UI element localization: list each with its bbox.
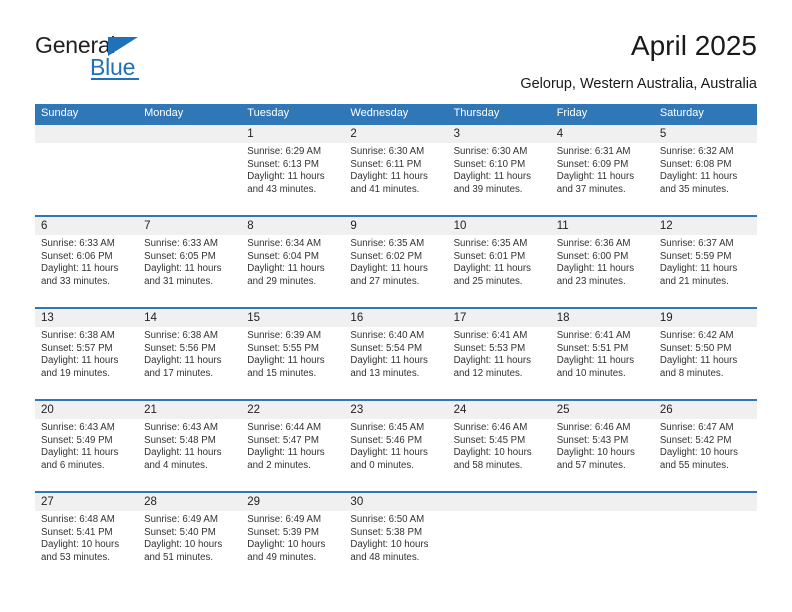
day-number[interactable]: 30 — [344, 493, 447, 511]
sunset-text: Sunset: 5:56 PM — [144, 343, 235, 356]
day-number[interactable]: 9 — [344, 217, 447, 235]
daylight-text-line1: Daylight: 11 hours — [660, 171, 751, 184]
day-cell: Sunrise: 6:29 AM Sunset: 6:13 PM Dayligh… — [241, 143, 344, 215]
daylight-text-line2: and 58 minutes. — [454, 460, 545, 473]
day-number-band: 27 28 29 30 — [35, 493, 757, 511]
sunset-text: Sunset: 6:11 PM — [350, 159, 441, 172]
daylight-text-line1: Daylight: 11 hours — [350, 263, 441, 276]
sunset-text: Sunset: 5:43 PM — [557, 435, 648, 448]
sunset-text: Sunset: 6:01 PM — [454, 251, 545, 264]
sunrise-text: Sunrise: 6:41 AM — [454, 330, 545, 343]
sunrise-text: Sunrise: 6:45 AM — [350, 422, 441, 435]
sunrise-text: Sunrise: 6:34 AM — [247, 238, 338, 251]
day-number-band: 20 21 22 23 24 25 26 — [35, 401, 757, 419]
day-number[interactable]: 25 — [551, 401, 654, 419]
weekday-header-thursday: Thursday — [448, 104, 551, 123]
sunrise-text: Sunrise: 6:43 AM — [144, 422, 235, 435]
day-cell: Sunrise: 6:46 AM Sunset: 5:43 PM Dayligh… — [551, 419, 654, 491]
day-number[interactable]: 16 — [344, 309, 447, 327]
day-number[interactable]: 24 — [448, 401, 551, 419]
day-cell — [448, 511, 551, 583]
daylight-text-line2: and 15 minutes. — [247, 368, 338, 381]
day-number[interactable]: 2 — [344, 125, 447, 143]
day-cell: Sunrise: 6:33 AM Sunset: 6:06 PM Dayligh… — [35, 235, 138, 307]
day-info-band: Sunrise: 6:29 AM Sunset: 6:13 PM Dayligh… — [35, 143, 757, 215]
day-cell: Sunrise: 6:36 AM Sunset: 6:00 PM Dayligh… — [551, 235, 654, 307]
daylight-text-line1: Daylight: 11 hours — [144, 263, 235, 276]
sunrise-text: Sunrise: 6:42 AM — [660, 330, 751, 343]
daylight-text-line1: Daylight: 11 hours — [41, 263, 132, 276]
daylight-text-line1: Daylight: 11 hours — [350, 447, 441, 460]
day-cell: Sunrise: 6:30 AM Sunset: 6:11 PM Dayligh… — [344, 143, 447, 215]
day-cell: Sunrise: 6:49 AM Sunset: 5:40 PM Dayligh… — [138, 511, 241, 583]
daylight-text-line1: Daylight: 11 hours — [41, 355, 132, 368]
daylight-text-line1: Daylight: 11 hours — [247, 263, 338, 276]
day-cell: Sunrise: 6:42 AM Sunset: 5:50 PM Dayligh… — [654, 327, 757, 399]
daylight-text-line2: and 49 minutes. — [247, 552, 338, 565]
sunrise-text: Sunrise: 6:39 AM — [247, 330, 338, 343]
daylight-text-line1: Daylight: 11 hours — [247, 355, 338, 368]
sunset-text: Sunset: 6:02 PM — [350, 251, 441, 264]
daylight-text-line1: Daylight: 10 hours — [144, 539, 235, 552]
day-cell — [35, 143, 138, 215]
sunrise-text: Sunrise: 6:43 AM — [41, 422, 132, 435]
day-info-band: Sunrise: 6:48 AM Sunset: 5:41 PM Dayligh… — [35, 511, 757, 583]
general-blue-logo: General Blue — [35, 32, 165, 80]
daylight-text-line2: and 21 minutes. — [660, 276, 751, 289]
day-number[interactable] — [551, 493, 654, 511]
daylight-text-line2: and 33 minutes. — [41, 276, 132, 289]
day-number[interactable]: 6 — [35, 217, 138, 235]
day-cell: Sunrise: 6:49 AM Sunset: 5:39 PM Dayligh… — [241, 511, 344, 583]
sunrise-text: Sunrise: 6:47 AM — [660, 422, 751, 435]
daylight-text-line1: Daylight: 11 hours — [557, 355, 648, 368]
sunset-text: Sunset: 5:39 PM — [247, 527, 338, 540]
daylight-text-line2: and 17 minutes. — [144, 368, 235, 381]
daylight-text-line1: Daylight: 11 hours — [144, 355, 235, 368]
weekday-header-sunday: Sunday — [35, 104, 138, 123]
day-number[interactable]: 15 — [241, 309, 344, 327]
sunset-text: Sunset: 5:51 PM — [557, 343, 648, 356]
day-cell: Sunrise: 6:38 AM Sunset: 5:56 PM Dayligh… — [138, 327, 241, 399]
logo-text-blue: Blue — [90, 54, 135, 80]
day-cell: Sunrise: 6:37 AM Sunset: 5:59 PM Dayligh… — [654, 235, 757, 307]
daylight-text-line1: Daylight: 11 hours — [660, 355, 751, 368]
daylight-text-line1: Daylight: 11 hours — [454, 263, 545, 276]
sunset-text: Sunset: 5:38 PM — [350, 527, 441, 540]
day-number[interactable]: 29 — [241, 493, 344, 511]
day-cell: Sunrise: 6:40 AM Sunset: 5:54 PM Dayligh… — [344, 327, 447, 399]
sunset-text: Sunset: 5:59 PM — [660, 251, 751, 264]
day-number[interactable]: 13 — [35, 309, 138, 327]
daylight-text-line2: and 27 minutes. — [350, 276, 441, 289]
day-cell: Sunrise: 6:33 AM Sunset: 6:05 PM Dayligh… — [138, 235, 241, 307]
daylight-text-line2: and 6 minutes. — [41, 460, 132, 473]
day-cell: Sunrise: 6:46 AM Sunset: 5:45 PM Dayligh… — [448, 419, 551, 491]
day-cell: Sunrise: 6:32 AM Sunset: 6:08 PM Dayligh… — [654, 143, 757, 215]
page-title: April 2025 — [631, 30, 757, 62]
sunrise-text: Sunrise: 6:44 AM — [247, 422, 338, 435]
daylight-text-line2: and 13 minutes. — [350, 368, 441, 381]
day-cell: Sunrise: 6:48 AM Sunset: 5:41 PM Dayligh… — [35, 511, 138, 583]
sunset-text: Sunset: 6:08 PM — [660, 159, 751, 172]
daylight-text-line1: Daylight: 11 hours — [247, 447, 338, 460]
day-number-band: 6 7 8 9 10 11 12 — [35, 217, 757, 235]
weekday-header-friday: Friday — [551, 104, 654, 123]
calendar-table: Sunday Monday Tuesday Wednesday Thursday… — [35, 104, 757, 583]
daylight-text-line2: and 31 minutes. — [144, 276, 235, 289]
daylight-text-line1: Daylight: 10 hours — [247, 539, 338, 552]
daylight-text-line1: Daylight: 10 hours — [557, 447, 648, 460]
calendar-page: General Blue April 2025 Gelorup, Western… — [0, 0, 792, 612]
sunrise-text: Sunrise: 6:33 AM — [41, 238, 132, 251]
day-cell: Sunrise: 6:45 AM Sunset: 5:46 PM Dayligh… — [344, 419, 447, 491]
day-number[interactable]: 27 — [35, 493, 138, 511]
day-cell: Sunrise: 6:43 AM Sunset: 5:48 PM Dayligh… — [138, 419, 241, 491]
logo-underline — [91, 78, 139, 80]
day-number[interactable]: 3 — [448, 125, 551, 143]
sunset-text: Sunset: 5:55 PM — [247, 343, 338, 356]
day-cell: Sunrise: 6:31 AM Sunset: 6:09 PM Dayligh… — [551, 143, 654, 215]
sunrise-text: Sunrise: 6:32 AM — [660, 146, 751, 159]
sunrise-text: Sunrise: 6:46 AM — [557, 422, 648, 435]
daylight-text-line2: and 48 minutes. — [350, 552, 441, 565]
day-number[interactable]: 5 — [654, 125, 757, 143]
sunset-text: Sunset: 6:00 PM — [557, 251, 648, 264]
sunrise-text: Sunrise: 6:38 AM — [144, 330, 235, 343]
day-cell: Sunrise: 6:39 AM Sunset: 5:55 PM Dayligh… — [241, 327, 344, 399]
sunset-text: Sunset: 5:49 PM — [41, 435, 132, 448]
day-cell: Sunrise: 6:41 AM Sunset: 5:51 PM Dayligh… — [551, 327, 654, 399]
daylight-text-line2: and 25 minutes. — [454, 276, 545, 289]
day-number-band: 13 14 15 16 17 18 19 — [35, 309, 757, 327]
daylight-text-line1: Daylight: 11 hours — [557, 171, 648, 184]
sunset-text: Sunset: 5:57 PM — [41, 343, 132, 356]
daylight-text-line2: and 0 minutes. — [350, 460, 441, 473]
sunrise-text: Sunrise: 6:49 AM — [247, 514, 338, 527]
sunrise-text: Sunrise: 6:30 AM — [454, 146, 545, 159]
daylight-text-line2: and 19 minutes. — [41, 368, 132, 381]
sunset-text: Sunset: 6:05 PM — [144, 251, 235, 264]
day-number[interactable]: 7 — [138, 217, 241, 235]
weekday-header-wednesday: Wednesday — [344, 104, 447, 123]
daylight-text-line1: Daylight: 11 hours — [350, 171, 441, 184]
day-info-band: Sunrise: 6:38 AM Sunset: 5:57 PM Dayligh… — [35, 327, 757, 399]
day-cell: Sunrise: 6:41 AM Sunset: 5:53 PM Dayligh… — [448, 327, 551, 399]
day-number[interactable]: 20 — [35, 401, 138, 419]
daylight-text-line1: Daylight: 11 hours — [41, 447, 132, 460]
daylight-text-line2: and 35 minutes. — [660, 184, 751, 197]
daylight-text-line2: and 43 minutes. — [247, 184, 338, 197]
day-cell: Sunrise: 6:35 AM Sunset: 6:02 PM Dayligh… — [344, 235, 447, 307]
daylight-text-line2: and 10 minutes. — [557, 368, 648, 381]
daylight-text-line1: Daylight: 10 hours — [350, 539, 441, 552]
calendar-week-row: 20 21 22 23 24 25 26 Sunrise: 6:43 AM Su… — [35, 399, 757, 491]
daylight-text-line1: Daylight: 10 hours — [41, 539, 132, 552]
daylight-text-line2: and 51 minutes. — [144, 552, 235, 565]
daylight-text-line2: and 55 minutes. — [660, 460, 751, 473]
daylight-text-line1: Daylight: 11 hours — [247, 171, 338, 184]
sunrise-text: Sunrise: 6:30 AM — [350, 146, 441, 159]
sunrise-text: Sunrise: 6:50 AM — [350, 514, 441, 527]
day-number[interactable]: 23 — [344, 401, 447, 419]
sunset-text: Sunset: 5:53 PM — [454, 343, 545, 356]
calendar-week-row: 6 7 8 9 10 11 12 Sunrise: 6:33 AM Sunset… — [35, 215, 757, 307]
daylight-text-line2: and 8 minutes. — [660, 368, 751, 381]
sunset-text: Sunset: 6:06 PM — [41, 251, 132, 264]
daylight-text-line2: and 39 minutes. — [454, 184, 545, 197]
daylight-text-line2: and 23 minutes. — [557, 276, 648, 289]
sunrise-text: Sunrise: 6:46 AM — [454, 422, 545, 435]
sunrise-text: Sunrise: 6:36 AM — [557, 238, 648, 251]
sunrise-text: Sunrise: 6:29 AM — [247, 146, 338, 159]
weekday-header-tuesday: Tuesday — [241, 104, 344, 123]
sunrise-text: Sunrise: 6:35 AM — [454, 238, 545, 251]
day-number[interactable]: 8 — [241, 217, 344, 235]
day-cell — [654, 511, 757, 583]
sunrise-text: Sunrise: 6:49 AM — [144, 514, 235, 527]
daylight-text-line1: Daylight: 11 hours — [557, 263, 648, 276]
daylight-text-line1: Daylight: 10 hours — [454, 447, 545, 460]
daylight-text-line2: and 29 minutes. — [247, 276, 338, 289]
sunset-text: Sunset: 5:48 PM — [144, 435, 235, 448]
sunrise-text: Sunrise: 6:38 AM — [41, 330, 132, 343]
day-number[interactable]: 19 — [654, 309, 757, 327]
daylight-text-line2: and 37 minutes. — [557, 184, 648, 197]
sunset-text: Sunset: 5:47 PM — [247, 435, 338, 448]
sunrise-text: Sunrise: 6:33 AM — [144, 238, 235, 251]
day-cell: Sunrise: 6:34 AM Sunset: 6:04 PM Dayligh… — [241, 235, 344, 307]
day-number[interactable]: 22 — [241, 401, 344, 419]
sunrise-text: Sunrise: 6:41 AM — [557, 330, 648, 343]
day-number[interactable]: 26 — [654, 401, 757, 419]
day-cell: Sunrise: 6:38 AM Sunset: 5:57 PM Dayligh… — [35, 327, 138, 399]
day-info-band: Sunrise: 6:33 AM Sunset: 6:06 PM Dayligh… — [35, 235, 757, 307]
daylight-text-line2: and 57 minutes. — [557, 460, 648, 473]
day-number[interactable] — [35, 125, 138, 143]
daylight-text-line2: and 2 minutes. — [247, 460, 338, 473]
sunset-text: Sunset: 5:54 PM — [350, 343, 441, 356]
sunset-text: Sunset: 5:40 PM — [144, 527, 235, 540]
page-header: General Blue April 2025 Gelorup, Western… — [0, 0, 792, 100]
daylight-text-line2: and 12 minutes. — [454, 368, 545, 381]
day-cell: Sunrise: 6:30 AM Sunset: 6:10 PM Dayligh… — [448, 143, 551, 215]
daylight-text-line1: Daylight: 10 hours — [660, 447, 751, 460]
sunset-text: Sunset: 5:50 PM — [660, 343, 751, 356]
day-cell: Sunrise: 6:50 AM Sunset: 5:38 PM Dayligh… — [344, 511, 447, 583]
day-cell — [551, 511, 654, 583]
calendar-week-row: 27 28 29 30 Sunrise: 6:48 AM Sunset: 5:4… — [35, 491, 757, 583]
daylight-text-line1: Daylight: 11 hours — [454, 171, 545, 184]
daylight-text-line2: and 41 minutes. — [350, 184, 441, 197]
day-number[interactable]: 1 — [241, 125, 344, 143]
sunset-text: Sunset: 5:42 PM — [660, 435, 751, 448]
day-number[interactable]: 4 — [551, 125, 654, 143]
sunrise-text: Sunrise: 6:35 AM — [350, 238, 441, 251]
day-number-band: 1 2 3 4 5 — [35, 125, 757, 143]
day-number[interactable] — [448, 493, 551, 511]
day-cell — [138, 143, 241, 215]
day-cell: Sunrise: 6:35 AM Sunset: 6:01 PM Dayligh… — [448, 235, 551, 307]
day-number[interactable] — [138, 125, 241, 143]
sunrise-text: Sunrise: 6:48 AM — [41, 514, 132, 527]
day-cell: Sunrise: 6:43 AM Sunset: 5:49 PM Dayligh… — [35, 419, 138, 491]
day-info-band: Sunrise: 6:43 AM Sunset: 5:49 PM Dayligh… — [35, 419, 757, 491]
sunrise-text: Sunrise: 6:40 AM — [350, 330, 441, 343]
sunrise-text: Sunrise: 6:31 AM — [557, 146, 648, 159]
day-number[interactable]: 12 — [654, 217, 757, 235]
calendar-week-row: 13 14 15 16 17 18 19 Sunrise: 6:38 AM Su… — [35, 307, 757, 399]
sunset-text: Sunset: 5:46 PM — [350, 435, 441, 448]
daylight-text-line1: Daylight: 11 hours — [454, 355, 545, 368]
day-number[interactable]: 10 — [448, 217, 551, 235]
sunset-text: Sunset: 5:45 PM — [454, 435, 545, 448]
weekday-header-saturday: Saturday — [654, 104, 757, 123]
day-number[interactable]: 18 — [551, 309, 654, 327]
sunset-text: Sunset: 6:09 PM — [557, 159, 648, 172]
weekday-header-monday: Monday — [138, 104, 241, 123]
day-number[interactable] — [654, 493, 757, 511]
sunset-text: Sunset: 6:13 PM — [247, 159, 338, 172]
daylight-text-line2: and 53 minutes. — [41, 552, 132, 565]
sunset-text: Sunset: 5:41 PM — [41, 527, 132, 540]
page-subtitle-location: Gelorup, Western Australia, Australia — [520, 76, 757, 93]
daylight-text-line1: Daylight: 11 hours — [350, 355, 441, 368]
sunset-text: Sunset: 6:10 PM — [454, 159, 545, 172]
calendar-week-row: 1 2 3 4 5 S — [35, 123, 757, 215]
sunset-text: Sunset: 6:04 PM — [247, 251, 338, 264]
day-cell: Sunrise: 6:47 AM Sunset: 5:42 PM Dayligh… — [654, 419, 757, 491]
daylight-text-line2: and 4 minutes. — [144, 460, 235, 473]
day-number[interactable]: 28 — [138, 493, 241, 511]
day-number[interactable]: 14 — [138, 309, 241, 327]
day-number[interactable]: 11 — [551, 217, 654, 235]
day-number[interactable]: 17 — [448, 309, 551, 327]
day-cell: Sunrise: 6:44 AM Sunset: 5:47 PM Dayligh… — [241, 419, 344, 491]
weekday-header-row: Sunday Monday Tuesday Wednesday Thursday… — [35, 104, 757, 123]
daylight-text-line1: Daylight: 11 hours — [144, 447, 235, 460]
day-number[interactable]: 21 — [138, 401, 241, 419]
daylight-text-line1: Daylight: 11 hours — [660, 263, 751, 276]
sunrise-text: Sunrise: 6:37 AM — [660, 238, 751, 251]
